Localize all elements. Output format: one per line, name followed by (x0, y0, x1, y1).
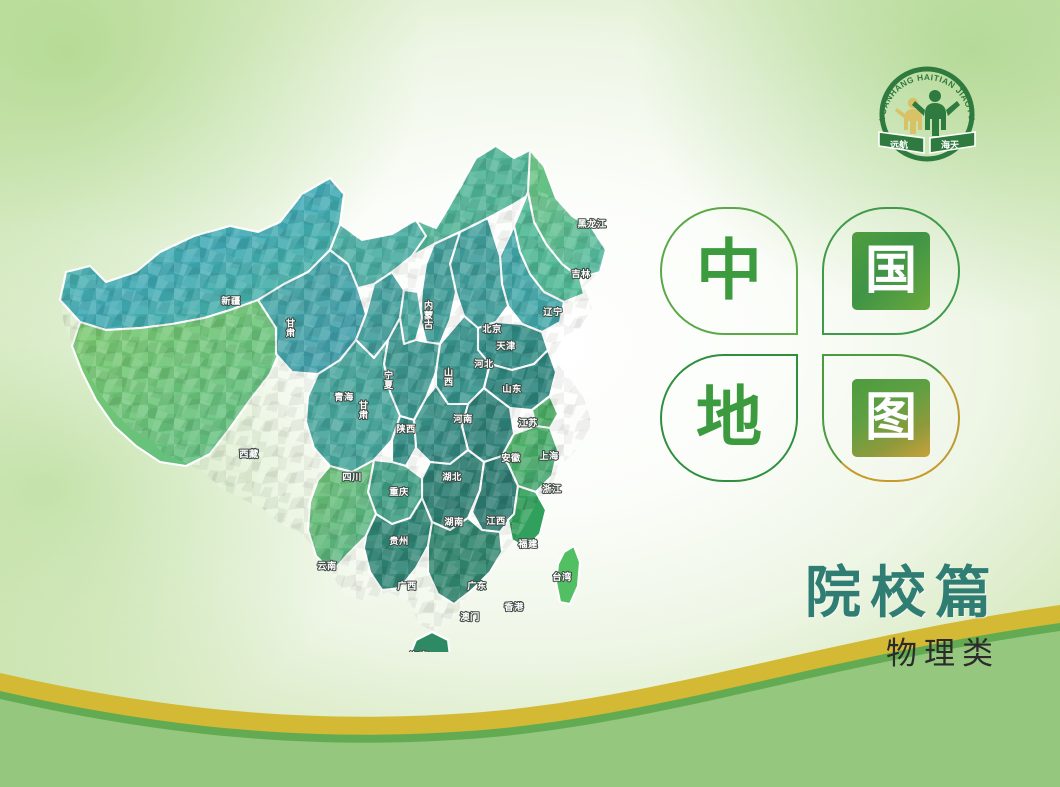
map-province-label: 河北 (474, 358, 494, 370)
headline-sub: 物理类 (0, 628, 1000, 673)
clover-char-tu: 图 (824, 356, 958, 480)
logo-book: 远航 海天 (879, 132, 975, 153)
map-province-label: 安徽 (501, 452, 521, 464)
clover-petal-tu[interactable]: 图 (822, 354, 960, 482)
clover-petal-guo[interactable]: 国 (822, 207, 960, 335)
map-province-label: 河南 (453, 413, 472, 425)
map-province-label: 陕西 (396, 423, 415, 435)
map-province-label: 内蒙古 (422, 300, 434, 330)
map-province-label: 北京 (482, 323, 501, 335)
map-province-label: 湖北 (442, 471, 462, 483)
map-province-label: 重庆 (389, 486, 409, 498)
map-province-label: 青海 (334, 391, 354, 403)
map-province-label: 江西 (486, 515, 505, 527)
logo-figure-gold (895, 98, 922, 134)
logo-book-text-right: 海天 (941, 139, 960, 151)
slide-canvas: YUANHANG HAITIAN JIAOYU 远航 海天 (0, 0, 1060, 787)
clover-char-guo-box: 国 (852, 232, 930, 310)
map-province-label: 浙江 (542, 483, 562, 495)
map-province-label: 吉林 (571, 268, 591, 280)
map-province-label: 天津 (496, 340, 516, 352)
map-province-label: 湖南 (444, 516, 463, 528)
map-province-label: 辽宁 (543, 306, 562, 318)
clover-char-di: 地 (662, 356, 796, 480)
map-province-label: 贵州 (389, 535, 408, 547)
map-province-label: 黑龙江 (577, 218, 606, 230)
clover-petal-zhong[interactable]: 中 (660, 207, 798, 335)
map-province-label: 甘肃 (357, 399, 369, 420)
map-province-label: 西藏 (239, 448, 259, 460)
map-province-label: 新疆 (221, 295, 241, 307)
clover-petal-di[interactable]: 地 (660, 354, 798, 482)
clover-char-zhong: 中 (662, 209, 796, 333)
map-province-label: 甘肃 (284, 317, 296, 338)
logo: YUANHANG HAITIAN JIAOYU 远航 海天 (869, 58, 985, 162)
headline-main: 院校篇 (0, 548, 1000, 629)
map-province-label: 宁夏 (382, 369, 395, 390)
map-province-label: 山西 (442, 366, 454, 387)
map-province-label: 四川 (342, 472, 361, 483)
logo-book-text-left: 远航 (890, 139, 908, 151)
map-province-label: 上海 (539, 450, 559, 462)
map-province-label: 山东 (502, 383, 521, 395)
clover-char-tu-box: 图 (852, 379, 930, 457)
map-province-label: 江苏 (518, 417, 538, 429)
title-clover: 中 国 地 图 (660, 207, 960, 482)
clover-char-guo: 国 (824, 209, 958, 333)
